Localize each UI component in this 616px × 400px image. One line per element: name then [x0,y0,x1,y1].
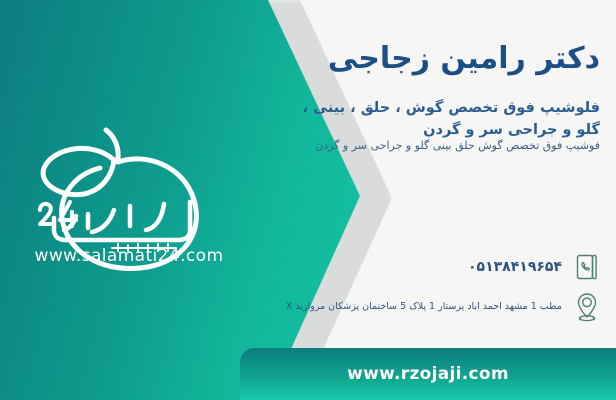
contact-row-address: مطب 1 مشهد احمد اباد پرستار 1 پلاک 5 ساخ… [214,290,602,324]
doctor-name: دکتر رامین زجاجی [230,40,600,78]
bottom-url-bar: www.rzojaji.com [240,348,616,400]
contact-row-phone: ۰۵۱۳۸۴۱۹۶۵۴ [230,250,602,284]
logo-website-url: www.salamati24.com [14,246,244,266]
phonebook-icon [572,250,602,284]
card-content: دکتر رامین زجاجی فلوشیپ فوق تخصص گوش ، ح… [216,0,616,400]
website-url[interactable]: www.rzojaji.com [347,364,509,384]
clinic-address[interactable]: مطب 1 مشهد احمد اباد پرستار 1 پلاک 5 ساخ… [214,300,562,313]
location-pin-icon [572,290,602,324]
doctor-specialty-sub: فوشیپ فوق تخصص گوش حلق بینی گلو و جراحی … [280,138,600,155]
business-card: www.salamati24.com دکتر رامین زجاجی فلوش… [0,0,616,400]
phone-number[interactable]: ۰۵۱۳۸۴۱۹۶۵۴ [230,259,562,275]
doctor-specialty: فلوشیپ فوق تخصص گوش ، حلق ، بینی ، گلو و… [280,97,600,142]
